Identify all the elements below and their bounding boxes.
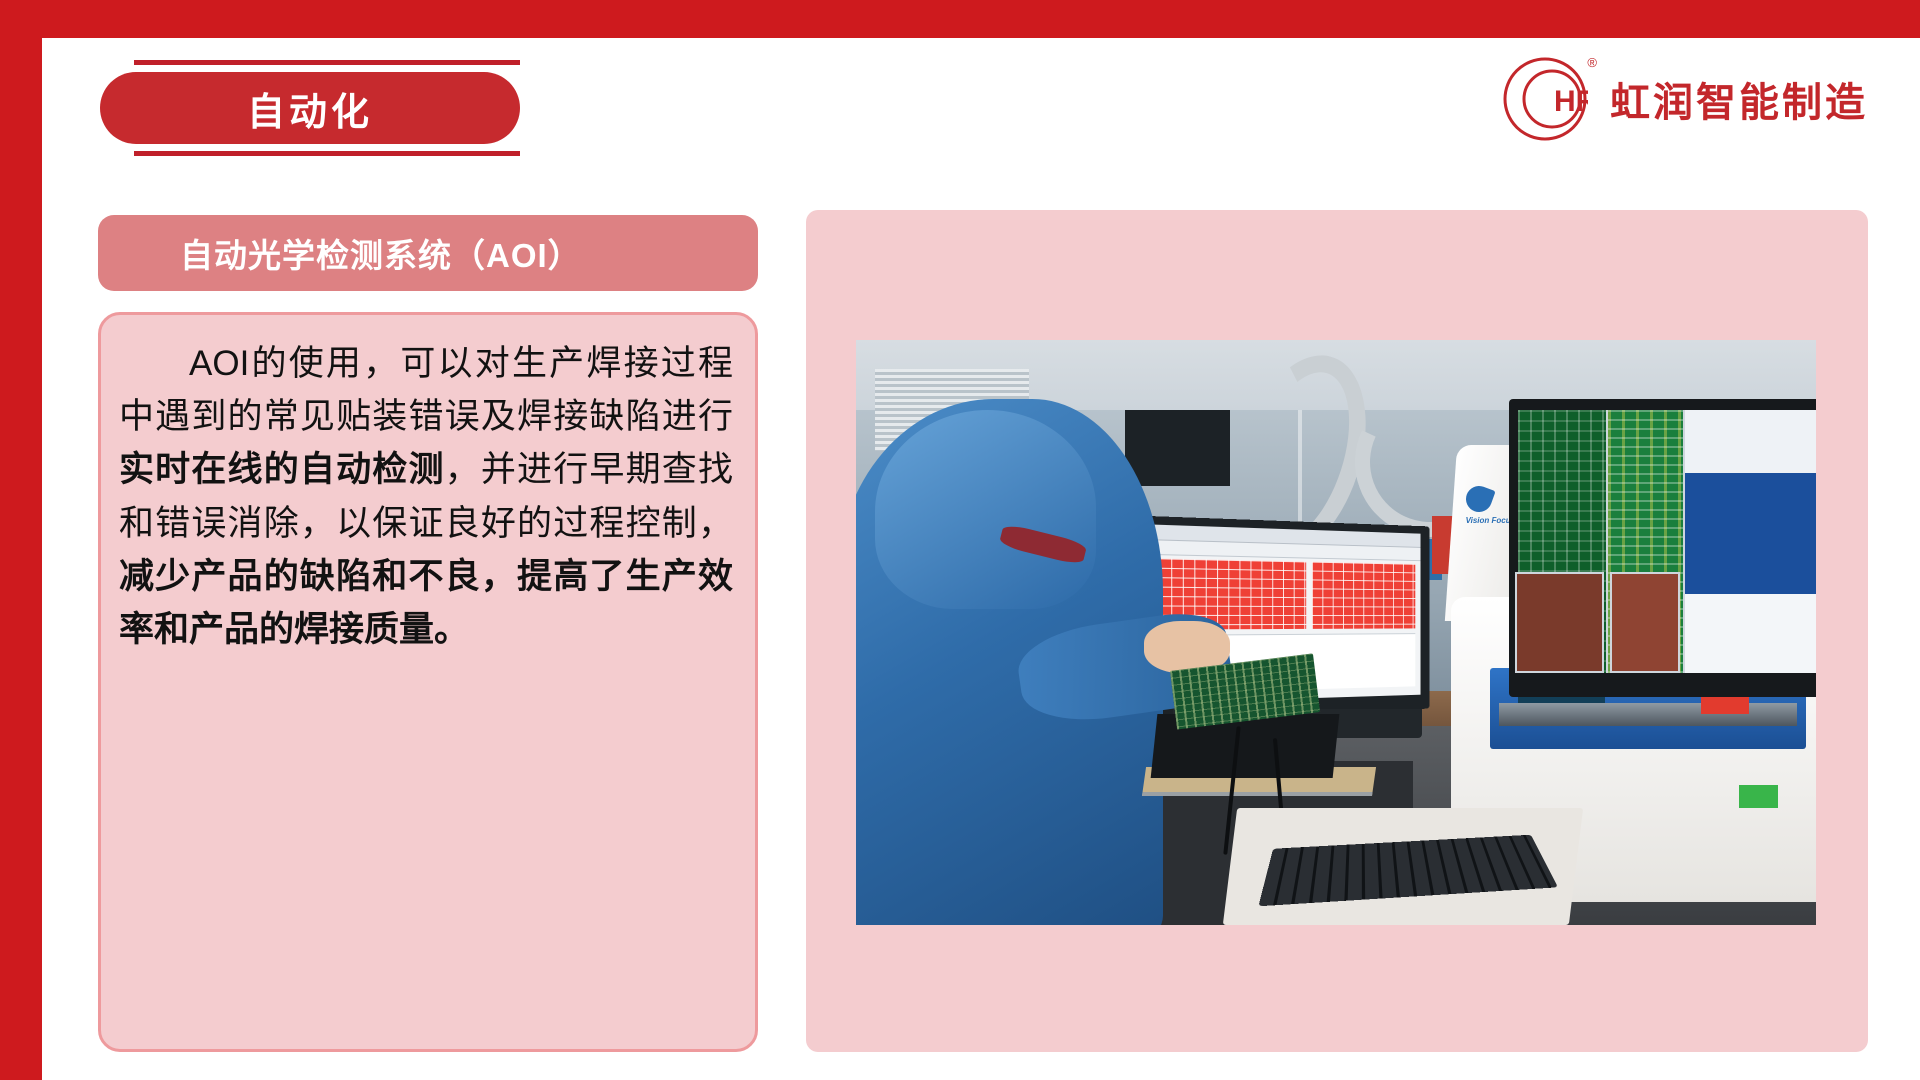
page-title: 自动化 — [247, 81, 373, 136]
hr-logo-svg: HR — [1502, 56, 1588, 142]
body-bold-1: 实时在线的自动检测 — [119, 450, 445, 489]
body-part-1: AOI的使用，可以对生产焊接过程中遇到的常见贴装错误及焊接缺陷进行 — [119, 344, 733, 436]
slide-root: 自动化 HR ® 虹润智能制造 自动光学检测系统（AOI） AOI的使用，可以对… — [0, 0, 1920, 1080]
photo-green-marker — [1739, 785, 1777, 808]
photo-brand-mark-icon — [1462, 483, 1495, 516]
photo-monitor-panel — [1685, 594, 1816, 673]
title-pill: 自动化 — [100, 72, 520, 144]
photo-red-marker — [1701, 697, 1749, 715]
photo-laptop-red-table-2 — [1312, 562, 1415, 629]
title-block: 自动化 — [100, 60, 520, 156]
photo-worker-hood — [875, 410, 1096, 609]
frame-left-bar — [0, 0, 42, 1080]
svg-text:HR: HR — [1554, 85, 1588, 118]
title-rule-top — [134, 60, 520, 65]
photo-monitor-thumb-2 — [1610, 572, 1680, 673]
section-subtitle: 自动光学检测系统（AOI） — [180, 229, 582, 277]
body-paragraph: AOI的使用，可以对生产焊接过程中遇到的常见贴装错误及焊接缺陷进行实时在线的自动… — [119, 337, 733, 656]
photo-conveyor-rail — [1499, 703, 1797, 726]
photo-panel: Vision Focus — [806, 210, 1868, 1052]
factory-photo: Vision Focus — [856, 340, 1816, 925]
body-card: AOI的使用，可以对生产焊接过程中遇到的常见贴装错误及焊接缺陷进行实时在线的自动… — [98, 312, 758, 1052]
photo-aoi-monitor — [1509, 399, 1816, 697]
photo-monitor-toolbar — [1685, 410, 1816, 473]
registered-mark: ® — [1587, 56, 1597, 69]
photo-monitor-thumb-1 — [1515, 572, 1604, 673]
hr-monogram-icon: HR ® — [1502, 56, 1588, 142]
brand-logo: HR ® 虹润智能制造 — [1502, 56, 1868, 142]
frame-top-bar — [0, 0, 1920, 38]
photo-equipment-dark — [1125, 410, 1231, 486]
title-rule-bottom — [134, 151, 520, 156]
photo-monitor-pane-right — [1685, 410, 1816, 673]
section-subtitle-bar: 自动光学检测系统（AOI） — [98, 215, 758, 291]
body-bold-2: 减少产品的缺陷和不良，提高了生产效率和产品的焊接质量。 — [119, 557, 733, 649]
company-name: 虹润智能制造 — [1610, 70, 1868, 128]
